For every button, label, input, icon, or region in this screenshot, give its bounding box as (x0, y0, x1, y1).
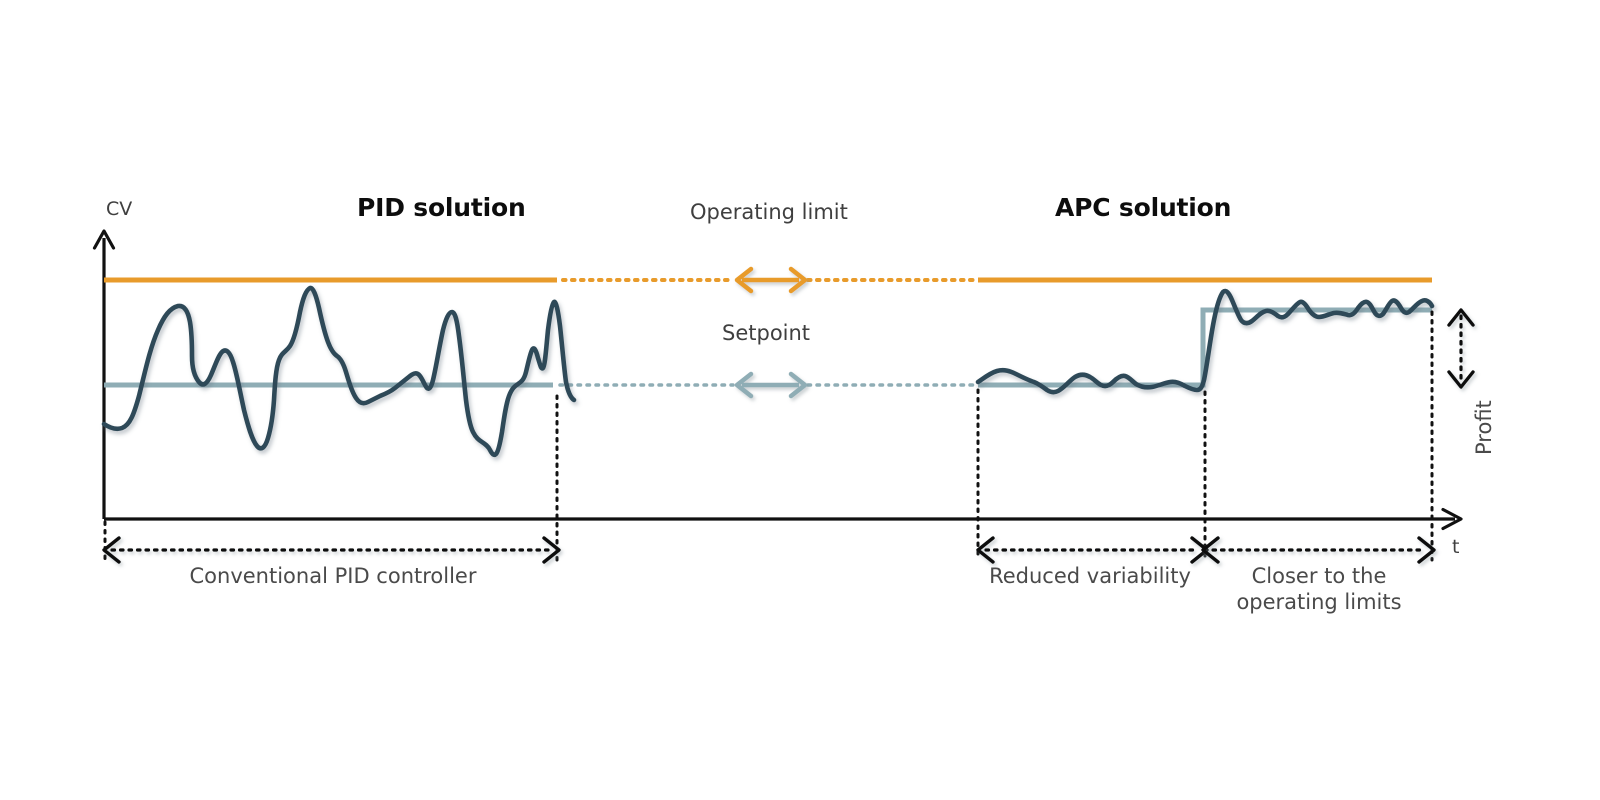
diagram-root: CV t PID solution APC solution Operating… (0, 0, 1600, 800)
span-arrow-reduced-variability (978, 538, 1207, 562)
span-label-closer-limits-line1: Closer to the (1212, 564, 1426, 588)
pid-signal-trace (104, 288, 574, 455)
profit-arrow (1449, 310, 1473, 387)
operating-limit-label: Operating limit (690, 200, 848, 224)
x-axis (104, 510, 1461, 529)
span-label-closer-limits-line2: operating limits (1212, 590, 1426, 614)
apc-solution-title: APC solution (1055, 193, 1231, 222)
apc-pid-comparison-diagram (0, 0, 1600, 800)
span-label-pid: Conventional PID controller (116, 564, 550, 588)
pid-solution-title: PID solution (357, 193, 526, 222)
x-axis-label: t (1452, 536, 1459, 558)
operating-limit-arrow (737, 269, 805, 291)
setpoint-label: Setpoint (722, 321, 810, 345)
span-label-reduced-variability: Reduced variability (978, 564, 1202, 588)
span-arrow-closer-limits (1203, 538, 1434, 562)
setpoint-arrow (737, 374, 805, 396)
span-arrow-pid (104, 538, 559, 562)
profit-label: Profit (1472, 400, 1496, 455)
y-axis (95, 231, 114, 519)
drop-lines (105, 312, 1432, 560)
y-axis-label: CV (106, 198, 132, 220)
